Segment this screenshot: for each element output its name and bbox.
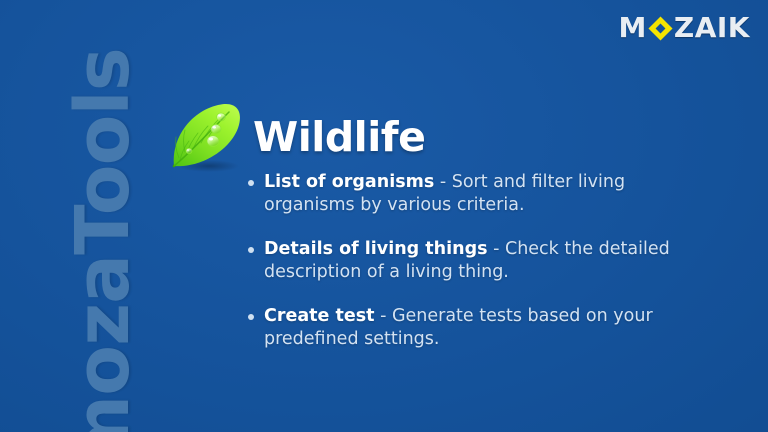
feature-dash: - xyxy=(488,239,505,259)
mozaik-logo[interactable]: M ZAIK xyxy=(619,13,750,43)
mozatools-watermark: mozaTools xyxy=(66,48,140,432)
bullet-icon xyxy=(248,180,254,186)
mozaik-logo-wordmark: M ZAIK xyxy=(619,14,750,42)
slide-header: Wildlife xyxy=(163,98,425,172)
list-item[interactable]: Create test - Generate tests based on yo… xyxy=(244,305,714,351)
mozaik-logo-text-after: ZAIK xyxy=(674,14,750,42)
leaf-icon xyxy=(163,96,247,174)
diamond-icon xyxy=(648,16,673,41)
bullet-icon xyxy=(248,314,254,320)
feature-title: List of organisms xyxy=(264,172,434,192)
feature-dash: - xyxy=(375,306,392,326)
feature-title: Create test xyxy=(264,306,375,326)
list-item[interactable]: List of organisms - Sort and filter livi… xyxy=(244,171,714,217)
feature-title: Details of living things xyxy=(264,239,488,259)
bullet-icon xyxy=(248,247,254,253)
slide-root: M ZAIK mozaTools xyxy=(0,0,768,432)
feature-list: List of organisms - Sort and filter livi… xyxy=(244,171,714,351)
mozaik-logo-text-before: M xyxy=(619,14,647,42)
page-title: Wildlife xyxy=(253,117,425,158)
feature-dash: - xyxy=(434,172,451,192)
list-item[interactable]: Details of living things - Check the det… xyxy=(244,238,714,284)
